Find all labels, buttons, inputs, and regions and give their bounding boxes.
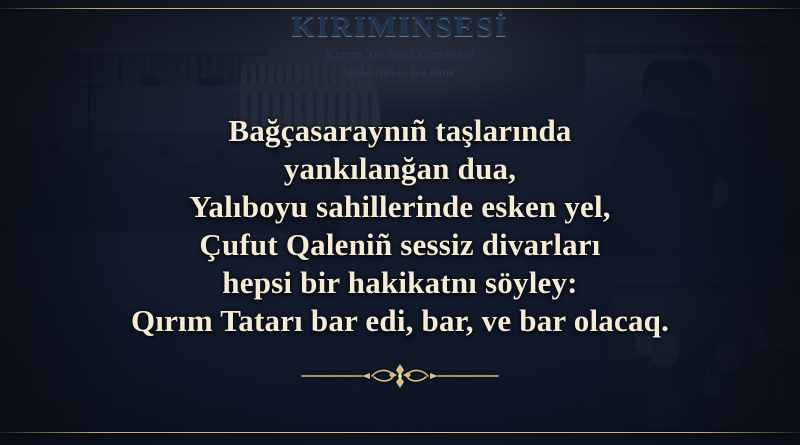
masthead: KIRIMINSESİ Kırım'ın Sesi Gazetesi 'Dild… [0,11,800,79]
masthead-slogan: 'Dilde, Fikirde, İşte Birlik' [0,69,800,79]
poster-canvas: KIRIMINSESİ Kırım'ın Sesi Gazetesi 'Dild… [0,0,800,445]
poem-line: Yalıboyu sahillerinde esken yel, [80,188,720,226]
bottom-gold-rule [0,432,800,433]
poem-line: yankılanğan dua, [80,150,720,188]
top-gold-rule [0,8,800,9]
poem-line: Bağçasaraynıñ taşlarında [80,112,720,150]
poem-line: Çufut Qaleniñ sessiz divarları [80,226,720,264]
poem-line: Qırım Tatarı bar edi, bar, ve bar olacaq… [80,302,720,340]
poem-line: hepsi bir hakikatnı söyley: [80,264,720,302]
masthead-title: KIRIMINSESİ [0,11,800,43]
poem-block: Bağçasaraynıñ taşlarında yankılanğan dua… [80,112,720,340]
fleuron-divider-icon [300,363,500,389]
masthead-subtitle: Kırım'ın Sesi Gazetesi [0,47,800,64]
